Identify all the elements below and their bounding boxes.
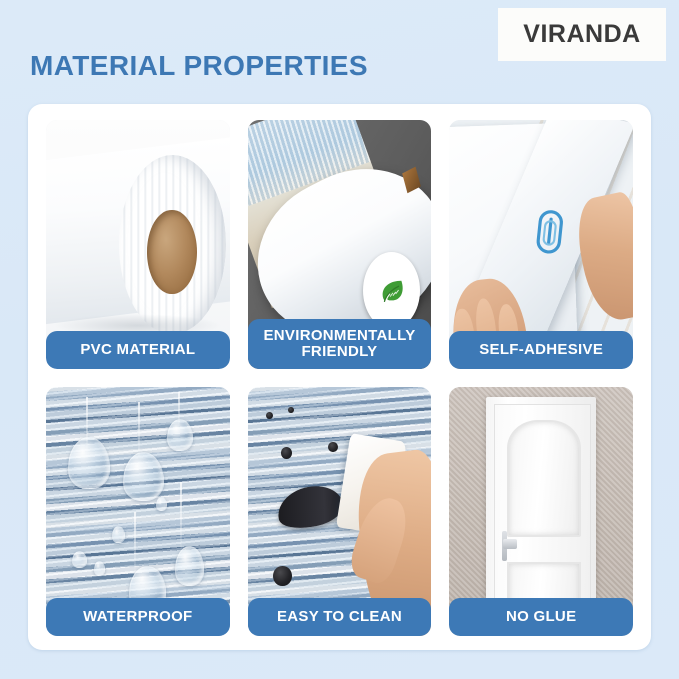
leaf-icon (363, 252, 420, 329)
feature-card-no-glue[interactable]: NO GLUE (449, 387, 633, 636)
feature-card-waterproof[interactable]: WATERPROOF (46, 387, 230, 636)
paperclip-icon (533, 201, 567, 263)
feature-label-text: WATERPROOF (83, 609, 192, 625)
feature-label-waterproof: WATERPROOF (46, 598, 230, 636)
brand-logo-box: VIRANDA (498, 8, 666, 61)
feature-panel: PVC MATERIAL (28, 104, 651, 650)
feature-label-text: PVC MATERIAL (80, 342, 195, 358)
feature-label-text: SELF-ADHESIVE (479, 342, 603, 358)
feature-card-easy-to-clean[interactable]: EASY TO CLEAN (248, 387, 432, 636)
feature-label-self-adhesive: SELF-ADHESIVE (449, 331, 633, 369)
feature-label-text: ENVIRONMENTALLY FRIENDLY (263, 328, 415, 360)
feature-label-easy-to-clean: EASY TO CLEAN (248, 598, 432, 636)
feature-grid: PVC MATERIAL (46, 120, 633, 636)
feature-card-self-adhesive[interactable]: SELF-ADHESIVE (449, 120, 633, 369)
page-title: MATERIAL PROPERTIES (30, 50, 368, 82)
brand-name: VIRANDA (523, 20, 640, 49)
feature-label-no-glue: NO GLUE (449, 598, 633, 636)
feature-label-environmentally-friendly: ENVIRONMENTALLY FRIENDLY (248, 319, 432, 369)
feature-card-environmentally-friendly[interactable]: ENVIRONMENTALLY FRIENDLY (248, 120, 432, 369)
feature-card-pvc-material[interactable]: PVC MATERIAL (46, 120, 230, 369)
feature-label-pvc-material: PVC MATERIAL (46, 331, 230, 369)
feature-label-text: EASY TO CLEAN (277, 609, 402, 625)
feature-label-text: NO GLUE (506, 609, 576, 625)
infographic-stage: VIRANDA MATERIAL PROPERTIES PVC MATERIAL (0, 0, 679, 679)
